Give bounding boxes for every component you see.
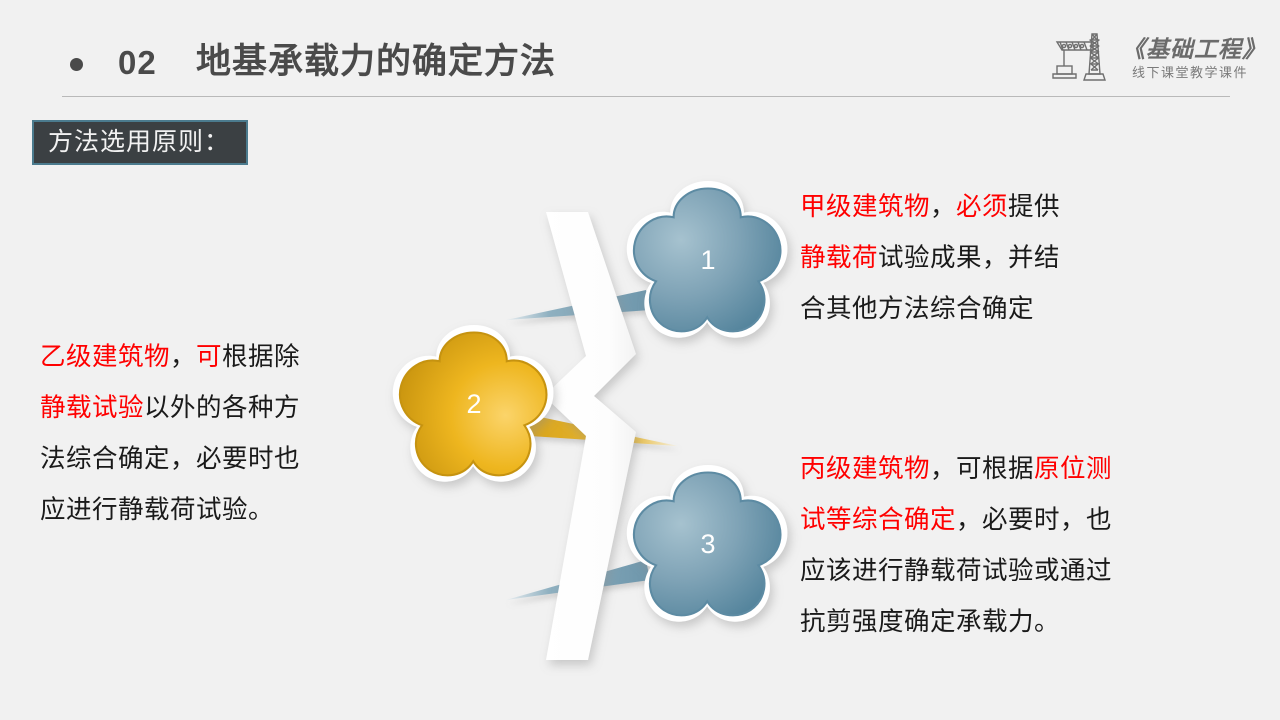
cloud-chevron-diagram: 1 2 3 (330, 160, 850, 680)
logo-subtitle: 线下课堂教学课件 (1132, 62, 1248, 81)
paragraph-line: 试等综合确定，必要时，也 (800, 495, 1220, 546)
paragraph-line: 合其他方法综合确定 (800, 284, 1220, 335)
slide-root: 02 地基承载力的确定方法 (0, 0, 1280, 720)
header-divider (62, 96, 1230, 97)
paragraph-line: 静载荷试验成果，并结 (800, 233, 1220, 284)
paragraph-line: 静载试验以外的各种方 (40, 383, 380, 434)
node-label-2: 2 (466, 389, 481, 419)
paragraph-grade-c: 丙级建筑物，可根据原位测试等综合确定，必要时，也应该进行静载荷试验或通过抗剪强度… (800, 444, 1220, 648)
paragraph-line: 甲级建筑物，必须提供 (800, 182, 1220, 233)
bullet-dot-icon (70, 58, 83, 71)
section-number: 02 (118, 43, 157, 83)
section-label-box: 方法选用原则： (32, 120, 248, 165)
paragraph-grade-b: 乙级建筑物，可根据除静载试验以外的各种方法综合确定，必要时也应进行静载荷试验。 (40, 332, 380, 536)
node-cloud-2[interactable]: 2 (393, 325, 554, 482)
section-label-text: 方法选用原则： (48, 130, 230, 155)
paragraph-line: 法综合确定，必要时也 (40, 434, 380, 485)
logo-title: 《基础工程》 (1122, 30, 1266, 64)
course-logo: 《基础工程》 线下课堂教学课件 (1048, 26, 1244, 88)
tower-crane-icon (1048, 28, 1120, 86)
node-cloud-1[interactable]: 1 (627, 181, 788, 338)
paragraph-line: 应进行静载荷试验。 (40, 485, 380, 536)
paragraph-grade-a: 甲级建筑物，必须提供静载荷试验成果，并结合其他方法综合确定 (800, 182, 1220, 335)
paragraph-line: 丙级建筑物，可根据原位测 (800, 444, 1220, 495)
paragraph-line: 应该进行静载荷试验或通过 (800, 546, 1220, 597)
page-title: 地基承载力的确定方法 (196, 41, 556, 83)
node-label-3: 3 (700, 529, 715, 559)
node-cloud-3[interactable]: 3 (627, 465, 788, 622)
node-label-1: 1 (700, 245, 715, 275)
paragraph-line: 抗剪强度确定承载力。 (800, 597, 1220, 648)
paragraph-line: 乙级建筑物，可根据除 (40, 332, 380, 383)
